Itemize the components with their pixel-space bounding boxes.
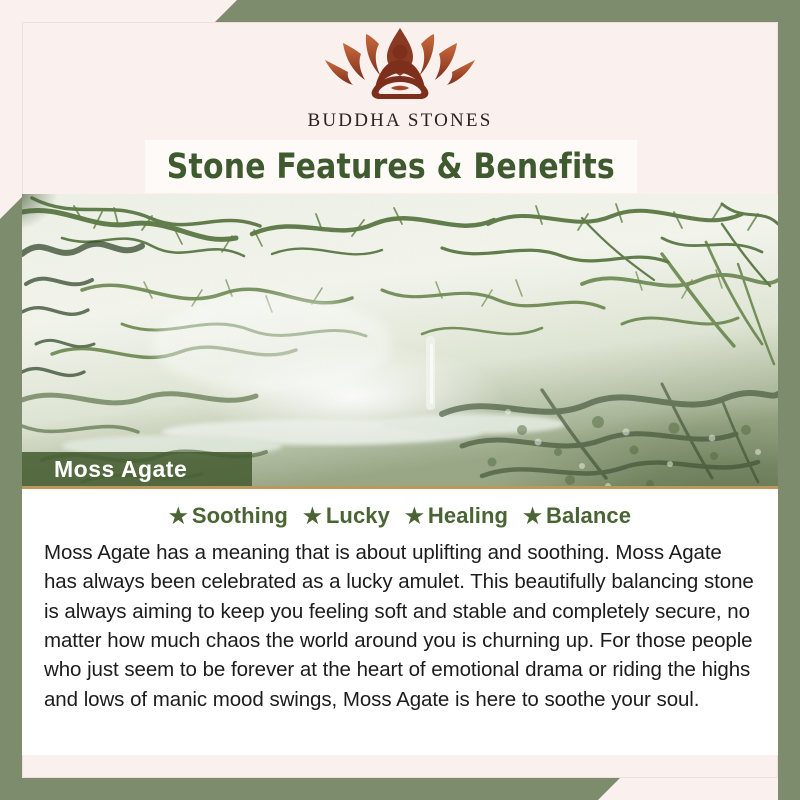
benefit-item: ★ Soothing bbox=[169, 503, 288, 529]
infographic-page: BUDDHA STONES Stone Features & Benefits bbox=[0, 0, 800, 800]
brand-header: BUDDHA STONES bbox=[0, 26, 800, 132]
stone-name-plate: Moss Agate bbox=[22, 452, 252, 486]
star-icon: ★ bbox=[523, 506, 542, 527]
page-title: Stone Features & Benefits bbox=[167, 147, 615, 187]
title-banner: Stone Features & Benefits bbox=[145, 140, 637, 193]
benefit-label: Soothing bbox=[192, 503, 288, 529]
benefit-label: Balance bbox=[546, 503, 631, 529]
benefit-label: Healing bbox=[428, 503, 508, 529]
star-icon: ★ bbox=[169, 506, 188, 527]
lotus-meditation-figure-icon bbox=[315, 26, 485, 106]
benefits-list: ★ Soothing ★ Lucky ★ Healing ★ Balance bbox=[44, 503, 756, 529]
star-icon: ★ bbox=[405, 506, 424, 527]
stone-name: Moss Agate bbox=[22, 456, 187, 483]
benefit-label: Lucky bbox=[326, 503, 390, 529]
benefit-item: ★ Lucky bbox=[303, 503, 390, 529]
star-icon: ★ bbox=[303, 506, 322, 527]
decor-band-left bbox=[0, 197, 22, 800]
benefit-item: ★ Balance bbox=[523, 503, 631, 529]
benefit-item: ★ Healing bbox=[405, 503, 508, 529]
stone-photo bbox=[22, 194, 778, 486]
description-card: ★ Soothing ★ Lucky ★ Healing ★ Balance M… bbox=[22, 489, 778, 755]
brand-name: BUDDHA STONES bbox=[307, 110, 492, 132]
decor-band-top bbox=[215, 0, 800, 22]
decor-band-bottom bbox=[0, 778, 620, 800]
stone-description: Moss Agate has a meaning that is about u… bbox=[44, 538, 756, 714]
